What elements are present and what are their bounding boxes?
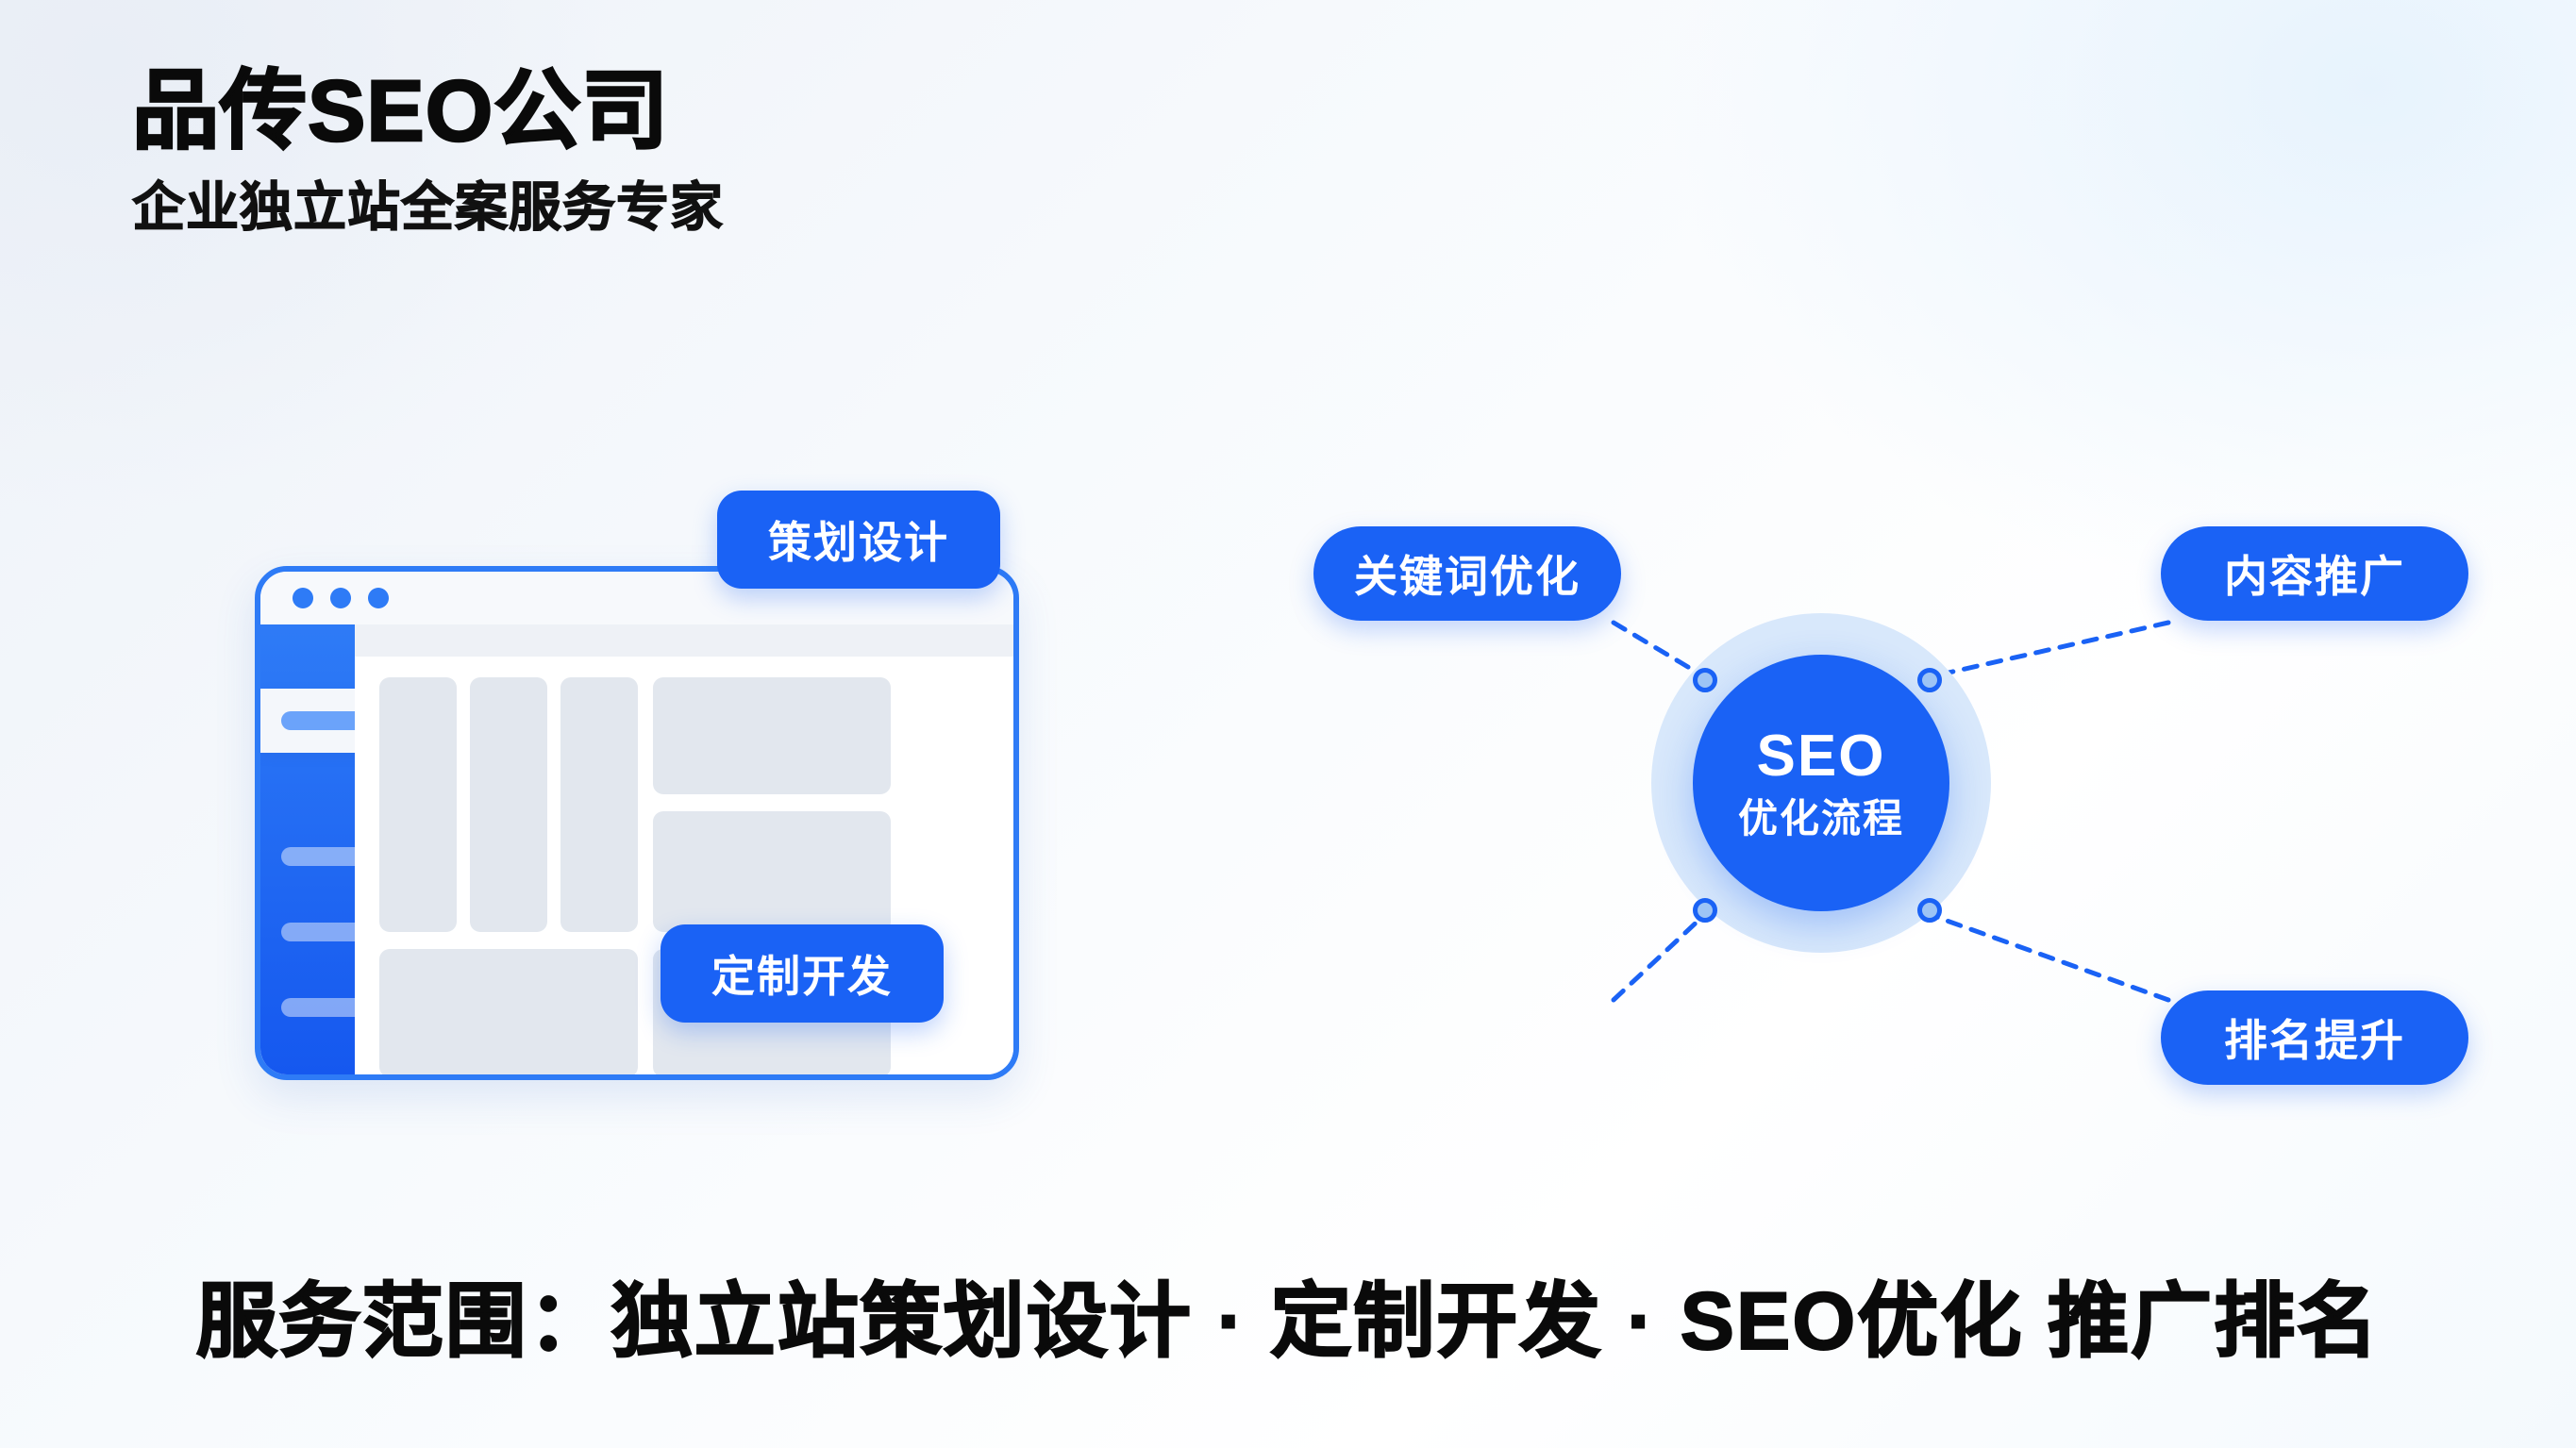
connector-node-icon	[1693, 668, 1717, 692]
seo-label-content-promotion: 内容推广	[2161, 526, 2468, 621]
seo-core-subtitle: 优化流程	[1738, 799, 1904, 839]
page-title: 品传SEO公司	[132, 66, 724, 158]
traffic-light-dot-icon	[293, 588, 313, 608]
content-panel	[560, 677, 638, 932]
connector-node-icon	[1693, 898, 1717, 923]
content-panel	[653, 677, 891, 794]
seo-process-diagram: SEO 优化流程 关键词优化 内容推广 排名提升	[1302, 509, 2491, 1113]
browser-mockup-illustration: 策划设计 定制开发	[255, 566, 1038, 1094]
page-subtitle: 企业独立站全案服务专家	[132, 178, 724, 237]
connector-node-icon	[1917, 668, 1942, 692]
content-top-strip	[355, 624, 1013, 657]
tag-planning-design: 策划设计	[717, 491, 1000, 589]
content-panel	[379, 949, 638, 1077]
service-scope-banner: 服务范围：独立站策划设计 · 定制开发 · SEO优化 推广排名	[0, 1255, 2576, 1373]
content-panel	[653, 811, 891, 932]
content-panel	[379, 677, 457, 932]
header-block: 品传SEO公司 企业独立站全案服务专家	[132, 66, 724, 236]
seo-label-keyword-optimization: 关键词优化	[1313, 526, 1621, 621]
traffic-light-dot-icon	[368, 588, 389, 608]
seo-core-circle: SEO 优化流程	[1693, 655, 1949, 911]
tag-custom-development: 定制开发	[661, 924, 944, 1023]
connector-node-icon	[1917, 898, 1942, 923]
seo-label-ranking-improvement: 排名提升	[2161, 990, 2468, 1085]
seo-core-title: SEO	[1757, 727, 1886, 786]
content-panel	[470, 677, 547, 932]
traffic-light-dot-icon	[330, 588, 351, 608]
